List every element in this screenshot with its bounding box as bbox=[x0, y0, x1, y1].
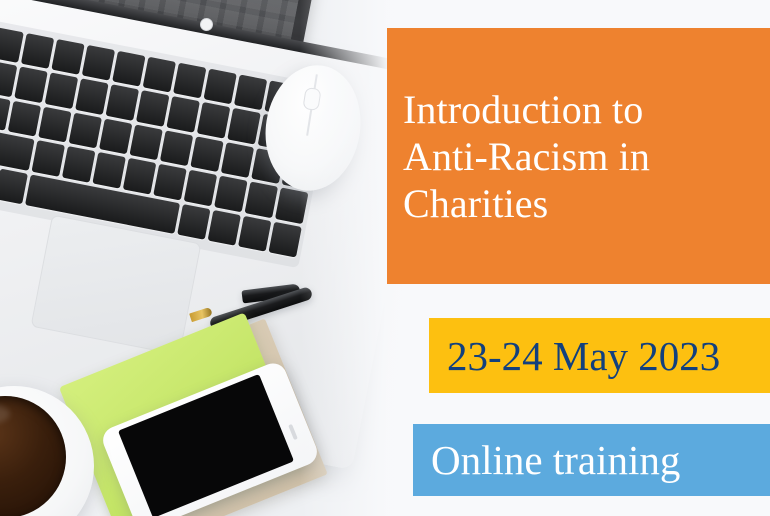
course-date: 23-24 May 2023 bbox=[429, 333, 720, 379]
delivery-mode: Online training bbox=[413, 437, 680, 483]
course-title-block: Introduction to Anti-Racism in Charities bbox=[387, 28, 770, 284]
desk-photo bbox=[0, 0, 420, 516]
delivery-mode-block: Online training bbox=[413, 424, 770, 496]
promo-banner: Introduction to Anti-Racism in Charities… bbox=[0, 0, 770, 516]
course-date-block: 23-24 May 2023 bbox=[429, 318, 770, 393]
course-title: Introduction to Anti-Racism in Charities bbox=[387, 86, 650, 227]
